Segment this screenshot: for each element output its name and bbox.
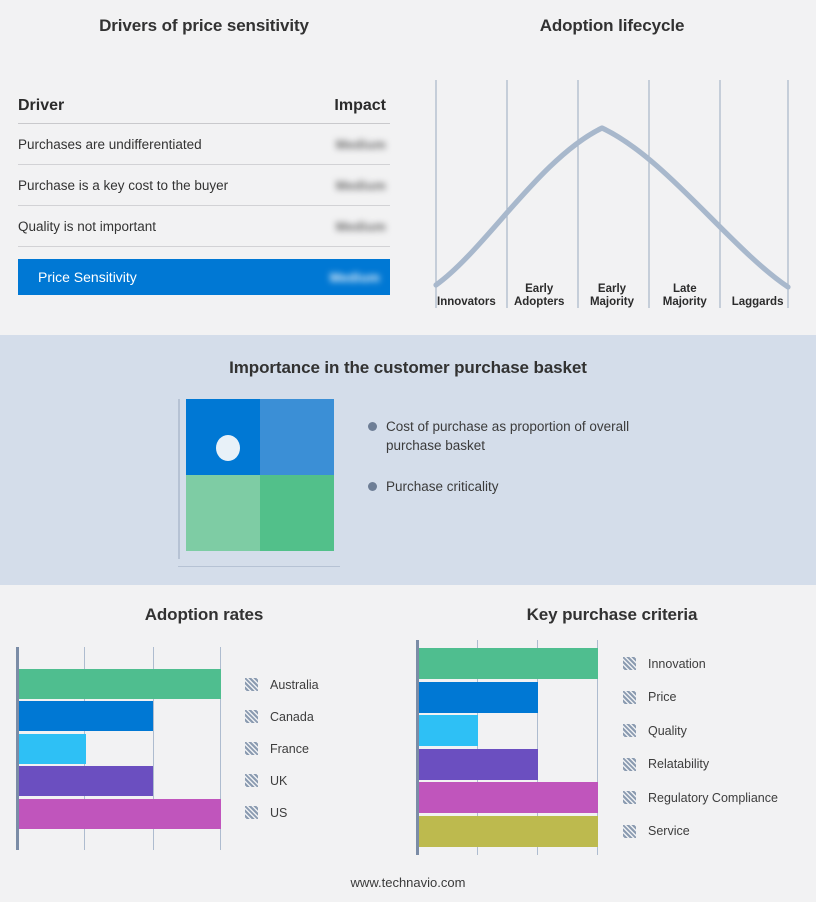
table-row: Purchases are undifferentiated Medium — [18, 124, 390, 165]
legend-label: Quality — [648, 724, 687, 738]
bar-row — [419, 816, 599, 847]
lifecycle-plot — [430, 80, 794, 308]
basket-title: Importance in the customer purchase bask… — [0, 358, 816, 378]
bar-row — [419, 715, 599, 746]
legend-swatch-icon — [623, 791, 636, 804]
legend-label: Regulatory Compliance — [648, 791, 778, 805]
legend-label: Service — [648, 824, 690, 838]
drivers-title: Drivers of price sensitivity — [0, 16, 408, 36]
legend-swatch-icon — [623, 758, 636, 771]
legend-label: Innovation — [648, 657, 706, 671]
drivers-table: Driver Impact Purchases are undifferenti… — [18, 88, 390, 295]
stage-label-late-majority: Late Majority — [648, 276, 721, 310]
bar-row — [419, 749, 599, 780]
legend-item: Regulatory Compliance — [623, 781, 778, 815]
stage-label-line2: Laggards — [732, 296, 784, 309]
lifecycle-bell-curve-svg — [430, 80, 794, 308]
bar — [19, 669, 222, 699]
legend-label: US — [270, 806, 287, 820]
adoption-rates-title: Adoption rates — [0, 605, 408, 625]
legend-label: Relatability — [648, 757, 709, 771]
bar — [419, 682, 539, 713]
footer-url: www.technavio.com — [0, 875, 816, 890]
bar-row — [19, 799, 222, 829]
price-sensitivity-summary-row: Price Sensitivity Medium — [18, 259, 390, 295]
legend-label: Price — [648, 690, 676, 704]
bar — [19, 799, 222, 829]
quadrant-top-right — [260, 399, 334, 475]
bar-row — [419, 648, 599, 679]
stage-label-line2: Majority — [663, 296, 707, 309]
legend-item: Price — [623, 681, 778, 715]
legend-item: UK — [245, 765, 319, 797]
bar-row — [19, 766, 222, 796]
criteria-plot-area — [416, 640, 598, 855]
stage-label-line1: Late — [673, 283, 697, 296]
drivers-panel: Drivers of price sensitivity Driver Impa… — [0, 0, 408, 335]
bar — [19, 701, 154, 731]
legend-bullet-icon — [368, 422, 377, 431]
legend-item: Canada — [245, 701, 319, 733]
quadrant-grid — [186, 399, 334, 551]
adoption-rates-panel: Adoption rates AustraliaCanadaFranceUKUS — [0, 585, 408, 875]
summary-impact-redacted: Medium — [316, 270, 380, 285]
legend-item: US — [245, 797, 319, 829]
legend-item: Innovation — [623, 647, 778, 681]
adoption-plot-area — [16, 647, 221, 850]
legend-label: Purchase criticality — [386, 477, 499, 496]
table-row: Quality is not important Medium — [18, 206, 390, 247]
bar-row — [19, 669, 222, 699]
stage-label-line1: Early — [598, 283, 626, 296]
legend-item: Service — [623, 815, 778, 849]
adoption-bars-container — [19, 647, 222, 850]
legend-swatch-icon — [245, 806, 258, 819]
quadrant-x-axis — [178, 566, 340, 568]
bar-row — [19, 701, 222, 731]
legend-item-cost-of-purchase: Cost of purchase as proportion of overal… — [368, 417, 708, 455]
position-marker-dot — [216, 435, 240, 461]
stage-label-early-adopters: Early Adopters — [503, 276, 576, 310]
stage-label-line1: Early — [525, 283, 553, 296]
stage-label-innovators: Innovators — [430, 276, 503, 310]
legend-item: Quality — [623, 714, 778, 748]
criteria-legend: InnovationPriceQualityRelatabilityRegula… — [623, 640, 778, 855]
bar — [419, 782, 599, 813]
adoption-legend: AustraliaCanadaFranceUKUS — [245, 647, 319, 850]
bar-row — [419, 682, 599, 713]
legend-label: Cost of purchase as proportion of overal… — [386, 417, 646, 455]
key-purchase-criteria-chart: InnovationPriceQualityRelatabilityRegula… — [416, 640, 808, 855]
stage-label-line2: Adopters — [514, 296, 564, 309]
legend-item-purchase-criticality: Purchase criticality — [368, 477, 708, 496]
legend-swatch-icon — [623, 691, 636, 704]
bar-row — [19, 734, 222, 764]
legend-swatch-icon — [245, 774, 258, 787]
lifecycle-title: Adoption lifecycle — [408, 16, 816, 36]
purchase-basket-panel: Importance in the customer purchase bask… — [0, 335, 816, 585]
quadrant-matrix — [178, 399, 343, 567]
legend-label: France — [270, 742, 309, 756]
driver-label: Quality is not important — [18, 219, 156, 234]
stage-label-early-majority: Early Majority — [576, 276, 649, 310]
column-header-driver: Driver — [18, 97, 64, 115]
legend-label: Canada — [270, 710, 314, 724]
driver-label: Purchases are undifferentiated — [18, 137, 202, 152]
bar — [419, 749, 539, 780]
legend-item: Australia — [245, 669, 319, 701]
legend-label: UK — [270, 774, 287, 788]
column-header-impact: Impact — [322, 97, 386, 115]
driver-label: Purchase is a key cost to the buyer — [18, 178, 228, 193]
legend-swatch-icon — [245, 742, 258, 755]
quadrant-bottom-left — [186, 475, 260, 551]
legend-swatch-icon — [623, 657, 636, 670]
lifecycle-panel: Adoption lifecycle Innovators — [408, 0, 816, 335]
key-purchase-criteria-panel: Key purchase criteria InnovationPriceQua… — [408, 585, 816, 875]
bar — [419, 816, 599, 847]
adoption-rates-chart: AustraliaCanadaFranceUKUS — [16, 647, 394, 850]
lifecycle-stage-labels: Innovators Early Adopters Early Majority… — [430, 276, 794, 310]
legend-bullet-icon — [368, 482, 377, 491]
legend-swatch-icon — [245, 678, 258, 691]
lifecycle-gridlines — [436, 80, 788, 308]
summary-label: Price Sensitivity — [38, 269, 137, 285]
legend-label: Australia — [270, 678, 319, 692]
criteria-title: Key purchase criteria — [408, 605, 816, 625]
stage-label-line2: Innovators — [437, 296, 496, 309]
legend-swatch-icon — [623, 724, 636, 737]
bell-curve-path — [436, 128, 788, 287]
legend-swatch-icon — [623, 825, 636, 838]
basket-legend: Cost of purchase as proportion of overal… — [368, 417, 708, 518]
stage-label-line2: Majority — [590, 296, 634, 309]
impact-value-redacted: Medium — [322, 178, 386, 193]
bar — [419, 648, 599, 679]
impact-value-redacted: Medium — [322, 219, 386, 234]
bar-row — [419, 782, 599, 813]
stage-label-laggards: Laggards — [721, 276, 794, 310]
bar — [19, 734, 86, 764]
legend-item: France — [245, 733, 319, 765]
legend-item: Relatability — [623, 748, 778, 782]
table-header-row: Driver Impact — [18, 88, 390, 124]
infographic-page: Drivers of price sensitivity Driver Impa… — [0, 0, 816, 902]
bar — [419, 715, 479, 746]
quadrant-y-axis — [178, 399, 180, 559]
quadrant-bottom-right — [260, 475, 334, 551]
legend-swatch-icon — [245, 710, 258, 723]
bar — [19, 766, 154, 796]
criteria-bars-container — [419, 640, 599, 855]
impact-value-redacted: Medium — [322, 137, 386, 152]
table-row: Purchase is a key cost to the buyer Medi… — [18, 165, 390, 206]
